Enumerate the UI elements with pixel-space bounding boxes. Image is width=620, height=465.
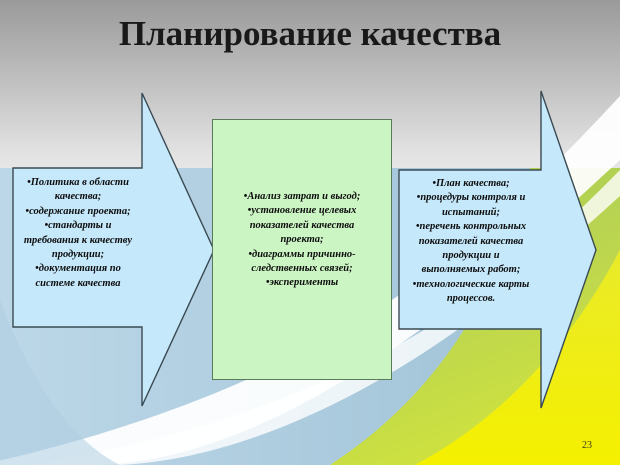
center-line-1: •установление целевых <box>212 204 392 218</box>
center-line-2: показателей качества <box>212 219 392 233</box>
inputs-line-0: •Политика в области <box>13 176 143 190</box>
inputs-line-2: •содержание проекта; <box>13 205 143 219</box>
outputs-line-3: •перечень контрольных <box>399 220 543 234</box>
outputs-line-4: показателей качества <box>399 235 543 249</box>
center-line-0: •Анализ затрат и выгод; <box>212 190 392 204</box>
outputs-line-2: испытаний; <box>399 206 543 220</box>
page-number: 23 <box>582 440 592 451</box>
outputs-line-8: процессов. <box>399 292 543 306</box>
inputs-line-6: •документация по <box>13 262 143 276</box>
outputs-line-5: продукции и <box>399 249 543 263</box>
tools-and-techniques-text: •Анализ затрат и выгод; •установление це… <box>212 190 392 291</box>
slide-title: Планирование качества <box>0 14 620 54</box>
center-line-3: проекта; <box>212 233 392 247</box>
outputs-line-0: •План качества; <box>399 177 543 191</box>
center-line-5: следственных связей; <box>212 262 392 276</box>
inputs-line-7: системе качества <box>13 277 143 291</box>
outputs-line-7: •технологические карты <box>399 278 543 292</box>
inputs-line-3: •стандарты и <box>13 219 143 233</box>
outputs-line-6: выполняемых работ; <box>399 263 543 277</box>
inputs-line-5: продукции; <box>13 248 143 262</box>
outputs-line-1: •процедуры контроля и <box>399 191 543 205</box>
inputs-line-1: качества; <box>13 190 143 204</box>
slide-canvas: Планирование качества •Политика в област… <box>0 0 620 465</box>
center-line-6: •эксперименты <box>212 276 392 290</box>
inputs-arrow-text: •Политика в области качества; •содержани… <box>13 176 143 291</box>
outputs-arrow-text: •План качества; •процедуры контроля и ис… <box>399 177 543 307</box>
inputs-line-4: требования к качеству <box>13 234 143 248</box>
center-line-4: •диаграммы причинно- <box>212 248 392 262</box>
